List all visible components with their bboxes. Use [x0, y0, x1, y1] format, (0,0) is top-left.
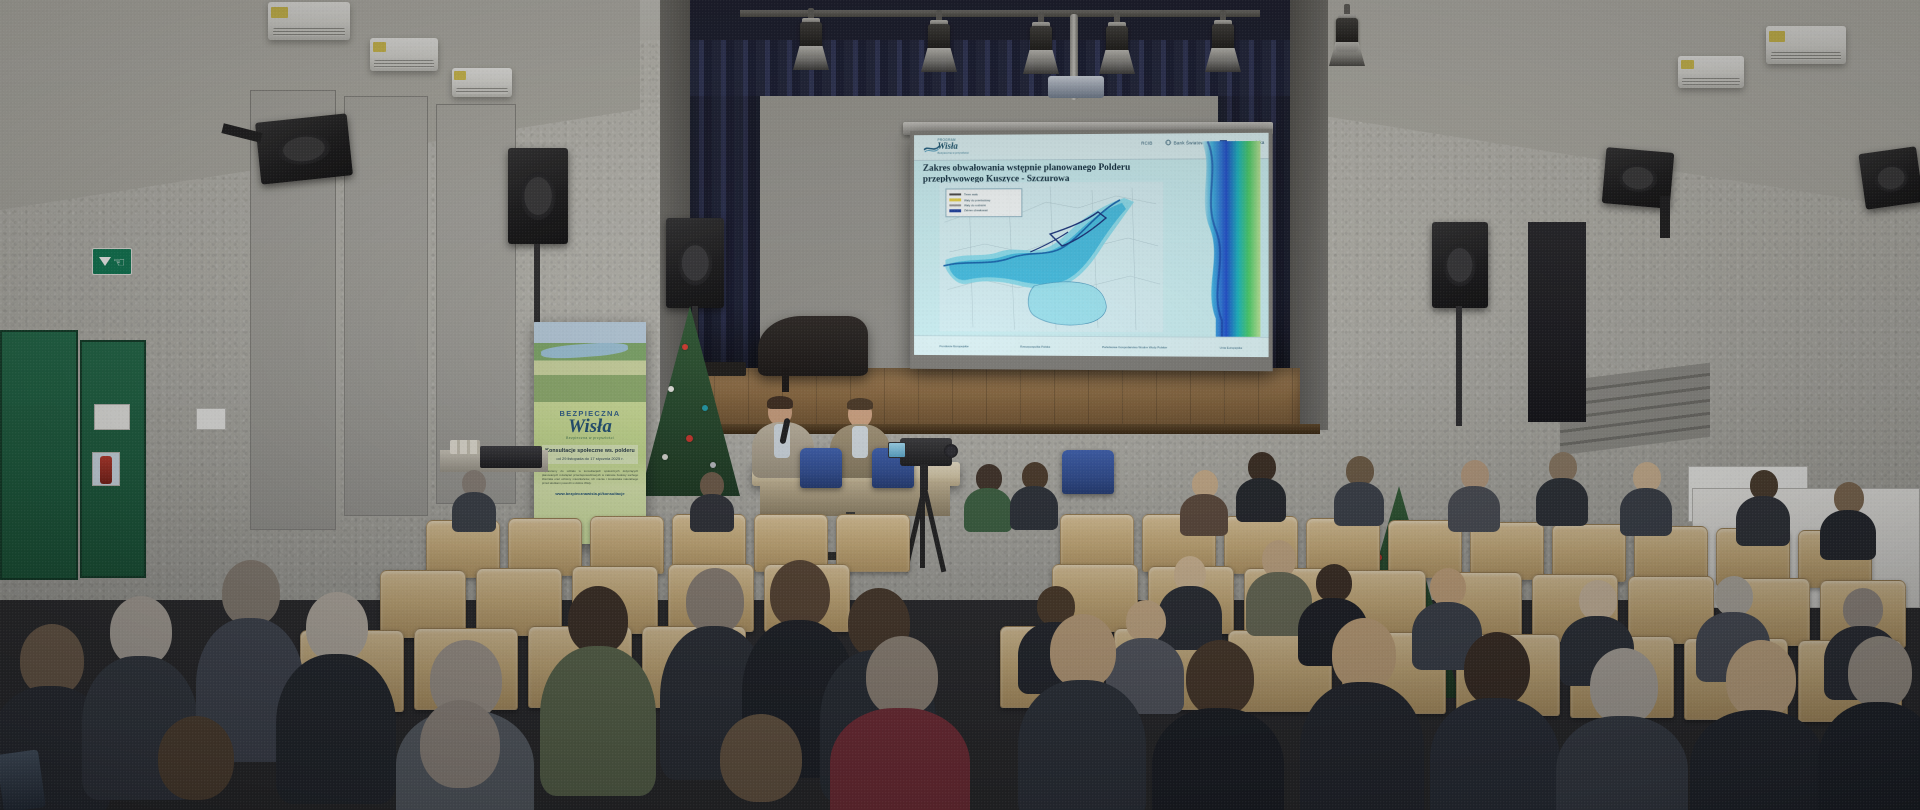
- audience-person: [1300, 618, 1424, 810]
- lighting-truss: [740, 10, 1260, 17]
- audience-head: [222, 560, 280, 626]
- camera-lens-icon: [944, 444, 958, 458]
- audience-shoulders: [1152, 708, 1284, 810]
- audience-shoulders: [1690, 710, 1826, 810]
- cups-on-side-table: [450, 440, 480, 454]
- legend-swatch-0: [949, 194, 961, 196]
- audience-shoulders: [276, 654, 396, 804]
- audience-shoulders: [452, 492, 496, 532]
- bauble: [710, 462, 716, 468]
- banner-photo: [534, 322, 646, 402]
- notice-sign-left-3: [196, 408, 226, 430]
- audience-shoulders: [540, 646, 656, 796]
- speaker-far-right: [1858, 146, 1920, 210]
- speaker-right-wall-bracket: [1660, 196, 1670, 238]
- audience-head: [720, 714, 802, 802]
- bauble: [702, 405, 708, 411]
- audience-person: [1818, 636, 1920, 810]
- tablet-device[interactable]: [0, 749, 46, 810]
- globe-icon: [1166, 139, 1172, 145]
- stage-curtain-top: [690, 40, 1290, 96]
- audience-person: [1152, 640, 1284, 810]
- camera-flip-screen: [888, 442, 906, 458]
- audience-head: [1726, 640, 1796, 718]
- audience-head: [568, 586, 628, 654]
- ac-unit-right-2: [1766, 26, 1846, 64]
- audience-person: [680, 714, 840, 810]
- audience-person: [452, 470, 496, 530]
- audience-shoulders: [1556, 716, 1688, 810]
- audience-person: [1334, 456, 1384, 524]
- presenter-2-shirt: [852, 426, 868, 458]
- exit-arrow-icon: [99, 257, 111, 266]
- banner-photo-river: [540, 341, 628, 360]
- audience-person: [380, 700, 540, 810]
- ac-unit-right-1: [1678, 56, 1744, 88]
- audience-shoulders: [830, 708, 970, 810]
- bauble: [662, 454, 668, 460]
- banner-brand-wordmark: Wisła: [542, 417, 638, 436]
- audience-head: [866, 636, 938, 716]
- audience-head: [1316, 564, 1352, 602]
- speaker-stage-right-stand: [1456, 306, 1462, 426]
- stage-lamp-2: [928, 20, 950, 74]
- audience-person: [1690, 640, 1826, 810]
- audience-head: [420, 700, 500, 788]
- map-legend: Teren wału Wały do przebudowy Wały do ro…: [945, 188, 1022, 217]
- slide-footer: Fundusze Europejskie Rzeczpospolita Pols…: [914, 335, 1269, 357]
- audience-shoulders: [1818, 702, 1920, 810]
- legend-label-0: Teren wału: [964, 193, 978, 197]
- audience-person: [1736, 470, 1790, 544]
- exit-sign: ☜: [92, 248, 132, 275]
- banner-body-text: Zapraszamy do udziału w konsultacjach sp…: [542, 469, 638, 485]
- audience-person: [1536, 452, 1588, 524]
- audience-shoulders: [1736, 496, 1790, 546]
- wall-panel-left-2: [344, 96, 428, 516]
- speaker-left-wall-high: [255, 113, 353, 184]
- legend-swatch-1: [949, 199, 961, 201]
- tripod-column: [920, 464, 928, 490]
- audience-person: [964, 464, 1012, 530]
- audience-head: [1050, 614, 1116, 688]
- speaker-left-stage: [508, 148, 568, 244]
- audience-person: [1430, 632, 1560, 810]
- piano-leg: [782, 368, 789, 392]
- audience-person: [276, 592, 396, 802]
- audience-person: [1448, 460, 1500, 530]
- legend-swatch-3: [949, 209, 961, 212]
- audience-person: [1180, 470, 1228, 534]
- audience-person: [690, 472, 734, 530]
- stage-lamp-1: [800, 18, 822, 72]
- bauble: [686, 435, 693, 442]
- ac-unit-left-2: [370, 38, 438, 71]
- legend-swatch-2: [949, 204, 961, 206]
- banner-headline: Konsultacje społeczne ws. polderu: [544, 448, 636, 454]
- grand-piano: [758, 316, 868, 376]
- footer-logo-0: Fundusze Europejskie: [940, 344, 969, 348]
- stage-lamp-4: [1106, 22, 1128, 76]
- stage-lamp-5: [1212, 20, 1234, 74]
- audience-person: [1010, 462, 1058, 528]
- stage-lamp-3: [1030, 22, 1052, 76]
- depth-gradient-band: [1198, 141, 1261, 343]
- audience-shoulders: [1180, 494, 1228, 536]
- speaker-stage-right-floor: [1432, 222, 1488, 308]
- ceiling-microphone-unit: [1048, 76, 1104, 98]
- speaker-stage-left-floor: [666, 218, 724, 308]
- audience-shoulders: [964, 488, 1012, 532]
- stage-chair-1: [800, 448, 842, 488]
- door-green-left[interactable]: [0, 330, 78, 580]
- audience-head: [1715, 576, 1753, 616]
- audience-shoulders: [1236, 478, 1286, 522]
- audience-person: [120, 716, 270, 810]
- wisla-logo: PROGRAM Wisła Bezpieczna w przyszłości: [922, 138, 993, 158]
- audience-person: [1018, 614, 1146, 810]
- audience-shoulders: [1620, 488, 1672, 536]
- audience-head: [1579, 580, 1617, 620]
- audience-head: [1186, 640, 1254, 716]
- audience-head: [1848, 636, 1912, 708]
- audience-person: [1556, 648, 1688, 810]
- presentation-slide: PROGRAM Wisła Bezpieczna w przyszłości R…: [914, 133, 1269, 357]
- wave-swoosh-icon: [924, 144, 940, 153]
- notice-sign-left-1: [94, 404, 130, 430]
- banner-subheadline: od 29 listopada do 17 stycznia 2025 r.: [544, 456, 636, 461]
- audience-head: [306, 592, 368, 662]
- legend-label-1: Wały do przebudowy: [964, 198, 990, 202]
- audience-shoulders: [1010, 486, 1058, 530]
- banner-headline-strip: Konsultacje społeczne ws. polderu od 29 …: [542, 445, 638, 464]
- doorway-right[interactable]: [1528, 222, 1586, 422]
- legend-label-3: Zakres obwałowań: [964, 209, 988, 213]
- ac-unit-left-3: [452, 68, 512, 97]
- audience-head: [1464, 632, 1530, 706]
- bauble: [668, 386, 674, 392]
- presenter-2-hair: [847, 398, 873, 410]
- footer-logo-2: Państwowe Gospodarstwo Wodne Wody Polski…: [1102, 345, 1167, 349]
- audience-person: [830, 636, 970, 810]
- audience-head: [1843, 588, 1883, 630]
- audience-person: [1820, 482, 1876, 558]
- legend-label-2: Wały do rozbiórki: [964, 203, 986, 207]
- fire-extinguisher: [100, 456, 112, 484]
- ac-unit-left-1: [268, 2, 350, 40]
- banner-brand-tagline: Bezpieczna w przyszłości: [542, 436, 638, 440]
- auditorium-photo: PROGRAM Wisła Bezpieczna w przyszłości R…: [0, 0, 1920, 810]
- audience-head: [686, 568, 744, 634]
- equipment-case: [480, 446, 542, 468]
- footer-logo-3: Unia Europejska: [1220, 345, 1242, 349]
- audience-person: [1236, 452, 1286, 520]
- footer-logo-1: Rzeczpospolita Polska: [1020, 344, 1050, 348]
- audience-shoulders: [1018, 680, 1146, 810]
- audience-head: [1590, 648, 1658, 724]
- audience-person: [1620, 462, 1672, 534]
- partner-logo-rcib: RCIB: [1141, 140, 1152, 145]
- running-person-icon: ☜: [113, 255, 126, 269]
- audience-shoulders: [1448, 486, 1500, 532]
- audience-person: [540, 586, 656, 792]
- stage-chair-3: [1062, 450, 1114, 494]
- audience-shoulders: [1536, 478, 1588, 526]
- audience-head: [158, 716, 234, 800]
- audience-shoulders: [1300, 682, 1424, 810]
- stage-lamp-6: [1336, 14, 1358, 68]
- legend-item-3: Zakres obwałowań: [949, 208, 1018, 214]
- audience-shoulders: [1334, 482, 1384, 526]
- audience-shoulders: [1430, 698, 1560, 810]
- audience-shoulders: [690, 494, 734, 532]
- presenter-1-hair: [767, 396, 793, 409]
- audience-head: [1430, 568, 1466, 606]
- bauble: [682, 344, 688, 350]
- projection-screen: PROGRAM Wisła Bezpieczna w przyszłości R…: [910, 129, 1273, 372]
- audience-head: [1332, 618, 1396, 690]
- audience-shoulders: [1820, 510, 1876, 560]
